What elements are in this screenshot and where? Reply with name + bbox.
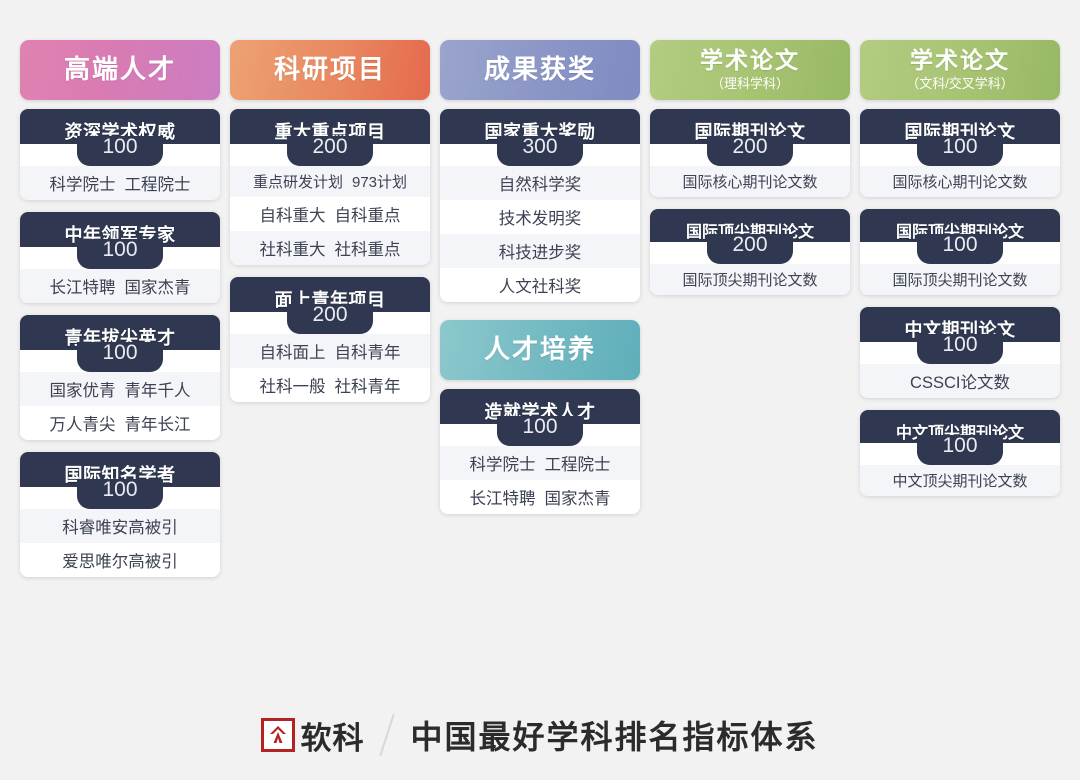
- spacer: [230, 100, 430, 109]
- score-tab-holder: 100: [860, 443, 1060, 465]
- category-subtitle: （理科学科）: [711, 73, 789, 92]
- indicator-item-row: 爱思唯尔高被引: [20, 543, 220, 577]
- indicator-item: 社科青年: [335, 378, 401, 396]
- score-tab-holder: 200: [650, 144, 850, 166]
- indicator-item-row: 国际顶尖期刊论文数: [860, 264, 1060, 295]
- indicator-score: 200: [287, 304, 373, 334]
- indicator-item: 国际核心期刊论文数: [682, 174, 817, 191]
- indicator-item: 自科青年: [335, 344, 401, 362]
- indicator-item-row: 中文顶尖期刊论文数: [860, 465, 1060, 496]
- indicator-item-row: 科技进步奖: [440, 234, 640, 268]
- category-header-5[interactable]: 学术论文（文科/交叉学科）: [860, 40, 1060, 100]
- indicator-item-row: 科学院士工程院士: [440, 446, 640, 480]
- indicator-item: 973计划: [352, 174, 407, 191]
- indicator-card[interactable]: 造就学术人才100科学院士工程院士长江特聘国家杰青: [440, 389, 640, 514]
- indicator-item-row: 自然科学奖: [440, 166, 640, 200]
- indicator-score: 100: [497, 416, 583, 446]
- category-title: 学术论文: [700, 48, 800, 72]
- category-title: 学术论文: [910, 48, 1010, 72]
- indicator-item: CSSCI论文数: [910, 374, 1010, 392]
- indicator-card-body: CSSCI论文数: [860, 364, 1060, 398]
- indicator-card-body: 国际顶尖期刊论文数: [860, 264, 1060, 295]
- indicator-item-row: 万人青尖青年长江: [20, 406, 220, 440]
- category-column-3: 成果获奖国家重大奖励300自然科学奖技术发明奖科技进步奖人文社科奖人才培养造就学…: [440, 40, 640, 670]
- indicator-item: 工程院士: [125, 176, 191, 194]
- indicator-item: 科学院士: [50, 176, 116, 194]
- indicator-card-body: 重点研发计划973计划自科重大自科重点社科重大社科重点: [230, 166, 430, 265]
- score-tab-holder: 100: [20, 247, 220, 269]
- indicator-item-row: 技术发明奖: [440, 200, 640, 234]
- indicator-item: 青年千人: [125, 382, 191, 400]
- indicator-item: 自科重点: [335, 207, 401, 225]
- indicator-card[interactable]: 国际知名学者100科睿唯安高被引爱思唯尔高被引: [20, 452, 220, 577]
- indicator-card-body: 国家优青青年千人万人青尖青年长江: [20, 372, 220, 440]
- score-tab-holder: 100: [440, 424, 640, 446]
- indicator-score: 100: [77, 136, 163, 166]
- indicator-card[interactable]: 国际期刊论文100国际核心期刊论文数: [860, 109, 1060, 197]
- category-column-2: 科研项目重大重点项目200重点研发计划973计划自科重大自科重点社科重大社科重点…: [230, 40, 430, 670]
- category-column-5: 学术论文（文科/交叉学科）国际期刊论文100国际核心期刊论文数国际顶尖期刊论文1…: [860, 40, 1060, 670]
- category-header-2[interactable]: 科研项目: [230, 40, 430, 100]
- spacer: [440, 380, 640, 389]
- indicator-score: 200: [287, 136, 373, 166]
- indicator-card-body: 中文顶尖期刊论文数: [860, 465, 1060, 496]
- indicator-item: 爱思唯尔高被引: [62, 553, 178, 571]
- indicator-item-row: 国际顶尖期刊论文数: [650, 264, 850, 295]
- indicator-card-body: 科睿唯安高被引爱思唯尔高被引: [20, 509, 220, 577]
- indicator-item-row: 自科面上自科青年: [230, 334, 430, 368]
- score-tab-holder: 100: [860, 144, 1060, 166]
- logo-wordmark: 软科: [300, 713, 364, 758]
- indicator-item-row: CSSCI论文数: [860, 364, 1060, 398]
- indicator-card[interactable]: 资深学术权威100科学院士工程院士: [20, 109, 220, 200]
- indicator-card-body: 国际核心期刊论文数: [650, 166, 850, 197]
- score-tab-holder: 300: [440, 144, 640, 166]
- indicator-item-row: 长江特聘国家杰青: [20, 269, 220, 303]
- score-tab-holder: 200: [650, 242, 850, 264]
- indicator-card[interactable]: 国际顶尖期刊论文200国际顶尖期刊论文数: [650, 209, 850, 295]
- indicator-item-row: 长江特聘国家杰青: [440, 480, 640, 514]
- score-tab-holder: 100: [20, 487, 220, 509]
- indicator-item: 人文社科奖: [499, 278, 582, 296]
- spacer: [860, 100, 1060, 109]
- category-column-4: 学术论文（理科学科）国际期刊论文200国际核心期刊论文数国际顶尖期刊论文200国…: [650, 40, 850, 670]
- indicator-card-body: 科学院士工程院士长江特聘国家杰青: [440, 446, 640, 514]
- card-group: 资深学术权威100科学院士工程院士中年领军专家100长江特聘国家杰青青年拔尖英才…: [20, 109, 220, 577]
- indicator-score: 100: [917, 234, 1003, 264]
- indicator-item: 自科重大: [260, 207, 326, 225]
- indicator-item-row: 人文社科奖: [440, 268, 640, 302]
- score-tab-holder: 200: [230, 144, 430, 166]
- spacer: [650, 100, 850, 109]
- indicator-grid: 高端人才资深学术权威100科学院士工程院士中年领军专家100长江特聘国家杰青青年…: [20, 40, 1060, 670]
- indicator-item-row: 社科重大社科重点: [230, 231, 430, 265]
- indicator-card-body: 自科面上自科青年社科一般社科青年: [230, 334, 430, 402]
- indicator-card[interactable]: 青年拔尖英才100国家优青青年千人万人青尖青年长江: [20, 315, 220, 440]
- indicator-card[interactable]: 中文期刊论文100CSSCI论文数: [860, 307, 1060, 398]
- indicator-item: 万人青尖: [50, 416, 116, 434]
- indicator-item: 长江特聘: [50, 279, 116, 297]
- indicator-score: 100: [917, 435, 1003, 465]
- indicator-item: 科睿唯安高被引: [62, 519, 178, 537]
- indicator-card[interactable]: 中文顶尖期刊论文100中文顶尖期刊论文数: [860, 410, 1060, 496]
- indicator-item: 国家杰青: [125, 279, 191, 297]
- indicator-item: 国际顶尖期刊论文数: [892, 272, 1027, 289]
- indicator-item: 社科一般: [260, 378, 326, 396]
- indicator-card[interactable]: 国际顶尖期刊论文100国际顶尖期刊论文数: [860, 209, 1060, 295]
- indicator-card-body: 国际核心期刊论文数: [860, 166, 1060, 197]
- ruanke-square-logo-icon: [261, 718, 295, 752]
- indicator-item: 工程院士: [545, 456, 611, 474]
- indicator-item: 社科重大: [260, 241, 326, 259]
- indicator-item: 国际顶尖期刊论文数: [682, 272, 817, 289]
- indicator-item: 重点研发计划: [253, 174, 343, 191]
- indicator-card[interactable]: 重大重点项目200重点研发计划973计划自科重大自科重点社科重大社科重点: [230, 109, 430, 265]
- indicator-item-row: 重点研发计划973计划: [230, 166, 430, 197]
- indicator-score: 200: [707, 234, 793, 264]
- infographic-root: 高端人才资深学术权威100科学院士工程院士中年领军专家100长江特聘国家杰青青年…: [0, 0, 1080, 780]
- score-tab-holder: 100: [20, 144, 220, 166]
- indicator-score: 100: [917, 136, 1003, 166]
- card-group: 国际期刊论文200国际核心期刊论文数国际顶尖期刊论文200国际顶尖期刊论文数: [650, 109, 850, 295]
- indicator-score: 200: [707, 136, 793, 166]
- slash-divider-icon: [380, 714, 395, 756]
- category-title: 高端人才: [64, 56, 176, 83]
- category-header-3-secondary[interactable]: 人才培养: [440, 320, 640, 380]
- indicator-card-body: 科学院士工程院士: [20, 166, 220, 200]
- indicator-item: 青年长江: [125, 416, 191, 434]
- indicator-item: 自然科学奖: [499, 176, 582, 194]
- indicator-item: 科学院士: [470, 456, 536, 474]
- spacer: [440, 100, 640, 109]
- indicator-score: 100: [77, 342, 163, 372]
- indicator-item-row: 自科重大自科重点: [230, 197, 430, 231]
- indicator-item-row: 国际核心期刊论文数: [650, 166, 850, 197]
- spacer: [440, 302, 640, 320]
- indicator-card-body: 长江特聘国家杰青: [20, 269, 220, 303]
- indicator-item: 国家优青: [50, 382, 116, 400]
- category-header-4[interactable]: 学术论文（理科学科）: [650, 40, 850, 100]
- indicator-item: 技术发明奖: [499, 210, 582, 228]
- card-group: 国际期刊论文100国际核心期刊论文数国际顶尖期刊论文100国际顶尖期刊论文数中文…: [860, 109, 1060, 496]
- indicator-item: 科技进步奖: [499, 244, 582, 262]
- indicator-card[interactable]: 国家重大奖励300自然科学奖技术发明奖科技进步奖人文社科奖: [440, 109, 640, 302]
- indicator-item: 国际核心期刊论文数: [892, 174, 1027, 191]
- indicator-item-row: 国家优青青年千人: [20, 372, 220, 406]
- score-tab-holder: 200: [230, 312, 430, 334]
- score-tab-holder: 100: [20, 350, 220, 372]
- indicator-item-row: 科学院士工程院士: [20, 166, 220, 200]
- spacer: [20, 100, 220, 109]
- indicator-card[interactable]: 面上青年项目200自科面上自科青年社科一般社科青年: [230, 277, 430, 402]
- indicator-item: 中文顶尖期刊论文数: [892, 473, 1027, 490]
- card-group-secondary: 造就学术人才100科学院士工程院士长江特聘国家杰青: [440, 389, 640, 514]
- indicator-card-body: 自然科学奖技术发明奖科技进步奖人文社科奖: [440, 166, 640, 302]
- indicator-card[interactable]: 国际期刊论文200国际核心期刊论文数: [650, 109, 850, 197]
- indicator-score: 100: [77, 479, 163, 509]
- indicator-item-row: 科睿唯安高被引: [20, 509, 220, 543]
- footer-title: 中国最好学科排名指标体系: [410, 712, 818, 758]
- indicator-item: 国家杰青: [545, 490, 611, 508]
- category-header-1[interactable]: 高端人才: [20, 40, 220, 100]
- score-tab-holder: 100: [860, 242, 1060, 264]
- category-title: 人才培养: [484, 336, 596, 363]
- indicator-score: 100: [917, 334, 1003, 364]
- indicator-item: 自科面上: [260, 344, 326, 362]
- indicator-item-row: 社科一般社科青年: [230, 368, 430, 402]
- card-group: 重大重点项目200重点研发计划973计划自科重大自科重点社科重大社科重点面上青年…: [230, 109, 430, 402]
- indicator-score: 100: [77, 239, 163, 269]
- indicator-item-row: 国际核心期刊论文数: [860, 166, 1060, 197]
- indicator-item: 社科重点: [335, 241, 401, 259]
- category-subtitle: （文科/交叉学科）: [906, 73, 1014, 92]
- category-column-1: 高端人才资深学术权威100科学院士工程院士中年领军专家100长江特聘国家杰青青年…: [20, 40, 220, 670]
- category-title: 成果获奖: [484, 56, 596, 83]
- card-group: 国家重大奖励300自然科学奖技术发明奖科技进步奖人文社科奖: [440, 109, 640, 302]
- score-tab-holder: 100: [860, 342, 1060, 364]
- indicator-card[interactable]: 中年领军专家100长江特聘国家杰青: [20, 212, 220, 303]
- footer-branding: 软科 中国最好学科排名指标体系: [0, 712, 1080, 758]
- category-header-3[interactable]: 成果获奖: [440, 40, 640, 100]
- indicator-item: 长江特聘: [470, 490, 536, 508]
- indicator-card-body: 国际顶尖期刊论文数: [650, 264, 850, 295]
- category-title: 科研项目: [274, 56, 386, 83]
- indicator-score: 300: [497, 136, 583, 166]
